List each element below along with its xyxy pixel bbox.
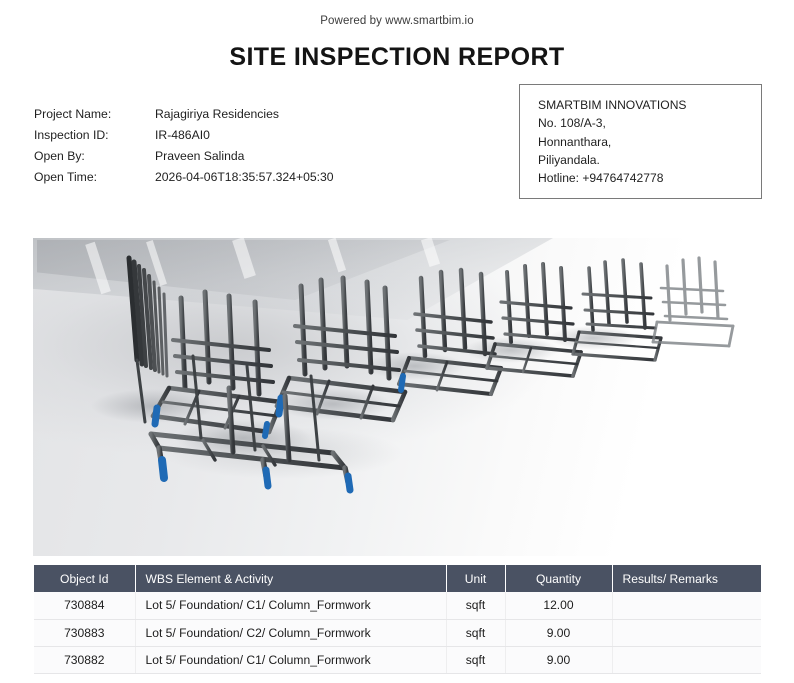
meta-label-open-by: Open By: xyxy=(34,149,155,170)
cell-unit: sqft xyxy=(446,646,505,673)
column-header-unit[interactable]: Unit xyxy=(446,565,505,592)
page-title: SITE INSPECTION REPORT xyxy=(0,43,794,72)
company-address-1: No. 108/A-3, xyxy=(538,114,761,132)
rebar-cage-6 xyxy=(653,258,733,346)
meta-row-project-name: Project Name: Rajagiriya Residencies xyxy=(34,107,334,128)
company-name: SMARTBIM INNOVATIONS xyxy=(538,96,761,114)
meta-value-open-time: 2026-04-06T18:35:57.324+05:30 xyxy=(155,170,334,191)
table-header-row: Object Id WBS Element & Activity Unit Qu… xyxy=(34,565,761,592)
bim-model-render xyxy=(33,238,761,556)
column-header-results[interactable]: Results/ Remarks xyxy=(612,565,761,592)
rebar-cage-geometry xyxy=(33,238,761,556)
cell-wbs: Lot 5/ Foundation/ C2/ Column_Formwork xyxy=(135,619,446,646)
meta-row-inspection-id: Inspection ID: IR-486AI0 xyxy=(34,128,334,149)
cell-unit: sqft xyxy=(446,619,505,646)
cell-wbs: Lot 5/ Foundation/ C1/ Column_Formwork xyxy=(135,646,446,673)
meta-label-inspection-id: Inspection ID: xyxy=(34,128,155,149)
company-hotline: Hotline: +94764742778 xyxy=(538,169,761,187)
table-row[interactable]: 730882 Lot 5/ Foundation/ C1/ Column_For… xyxy=(34,646,761,673)
cell-object-id: 730883 xyxy=(34,619,135,646)
meta-row-open-by: Open By: Praveen Salinda xyxy=(34,149,334,170)
highlight-marker-cage-3 xyxy=(401,376,403,390)
cell-wbs: Lot 5/ Foundation/ C1/ Column_Formwork xyxy=(135,592,446,619)
cell-quantity: 9.00 xyxy=(505,619,612,646)
inspection-items-table: Object Id WBS Element & Activity Unit Qu… xyxy=(34,565,761,674)
cell-results[interactable] xyxy=(612,592,761,619)
column-header-wbs[interactable]: WBS Element & Activity xyxy=(135,565,446,592)
table-row[interactable]: 730883 Lot 5/ Foundation/ C2/ Column_For… xyxy=(34,619,761,646)
meta-row-open-time: Open Time: 2026-04-06T18:35:57.324+05:30 xyxy=(34,170,334,191)
company-address-2: Honnanthara, xyxy=(538,133,761,151)
meta-value-open-by: Praveen Salinda xyxy=(155,149,334,170)
inspection-items-table-wrapper: Object Id WBS Element & Activity Unit Qu… xyxy=(34,565,761,674)
company-address-3: Piliyandala. xyxy=(538,151,761,169)
highlight-marker-cage-2 xyxy=(279,398,281,414)
cell-quantity: 12.00 xyxy=(505,592,612,619)
table-row[interactable]: 730884 Lot 5/ Foundation/ C1/ Column_For… xyxy=(34,592,761,619)
company-info-box: SMARTBIM INNOVATIONS No. 108/A-3, Honnan… xyxy=(519,84,762,199)
meta-value-project-name: Rajagiriya Residencies xyxy=(155,107,334,128)
cell-results[interactable] xyxy=(612,646,761,673)
column-header-object-id[interactable]: Object Id xyxy=(34,565,135,592)
cell-results[interactable] xyxy=(612,619,761,646)
meta-label-project-name: Project Name: xyxy=(34,107,155,128)
cell-object-id: 730884 xyxy=(34,592,135,619)
rebar-bundle-left xyxy=(129,258,167,376)
meta-value-inspection-id: IR-486AI0 xyxy=(155,128,334,149)
project-details-table: Project Name: Rajagiriya Residencies Ins… xyxy=(34,107,334,191)
cell-object-id: 730882 xyxy=(34,646,135,673)
powered-by-label: Powered by www.smartbim.io xyxy=(0,0,794,27)
meta-label-open-time: Open Time: xyxy=(34,170,155,191)
column-header-quantity[interactable]: Quantity xyxy=(505,565,612,592)
cell-quantity: 9.00 xyxy=(505,646,612,673)
report-meta-section: Project Name: Rajagiriya Residencies Ins… xyxy=(0,107,794,227)
cell-unit: sqft xyxy=(446,592,505,619)
